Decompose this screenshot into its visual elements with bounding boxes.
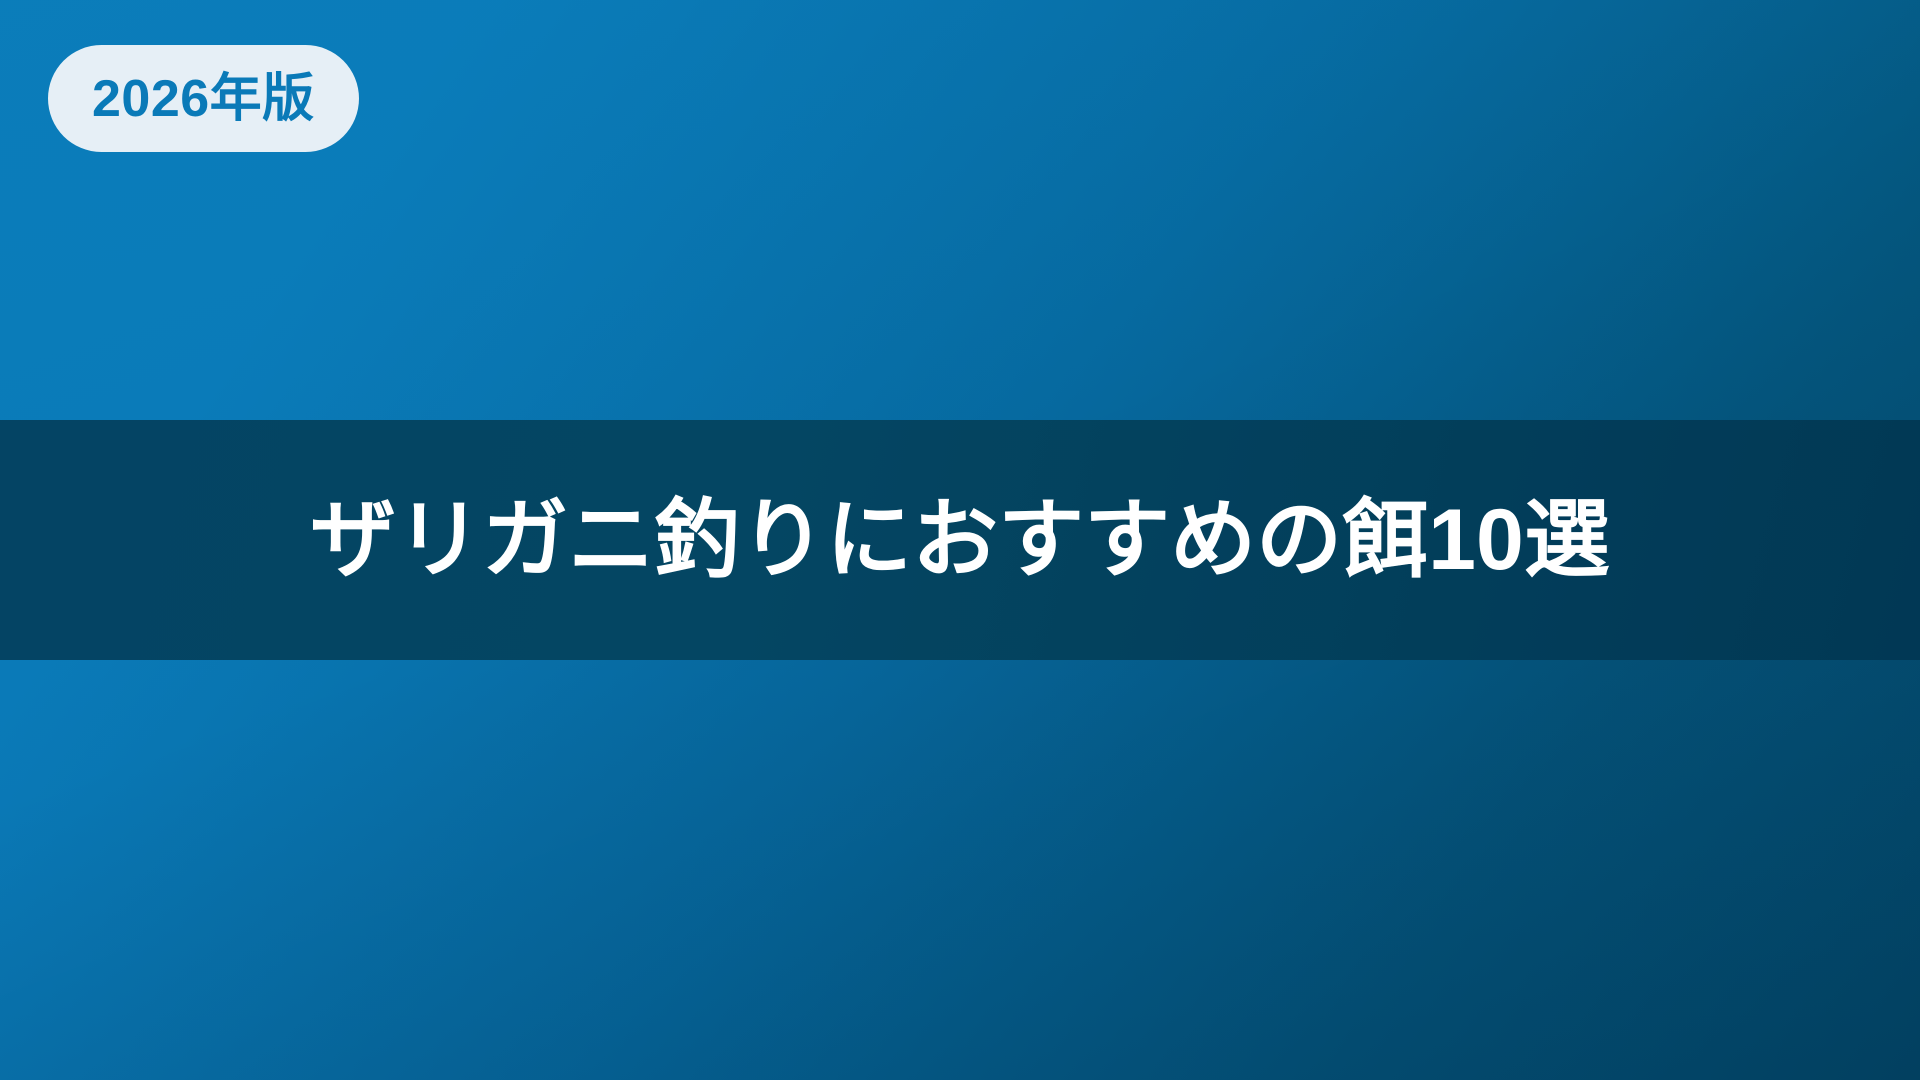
page-title: ザリガニ釣りにおすすめの餌10選 (270, 493, 1650, 588)
title-card: 2026年版 ザリガニ釣りにおすすめの餌10選 (0, 0, 1920, 1080)
year-badge: 2026年版 (48, 45, 359, 152)
title-band: ザリガニ釣りにおすすめの餌10選 (0, 420, 1920, 660)
year-badge-label: 2026年版 (92, 73, 315, 125)
